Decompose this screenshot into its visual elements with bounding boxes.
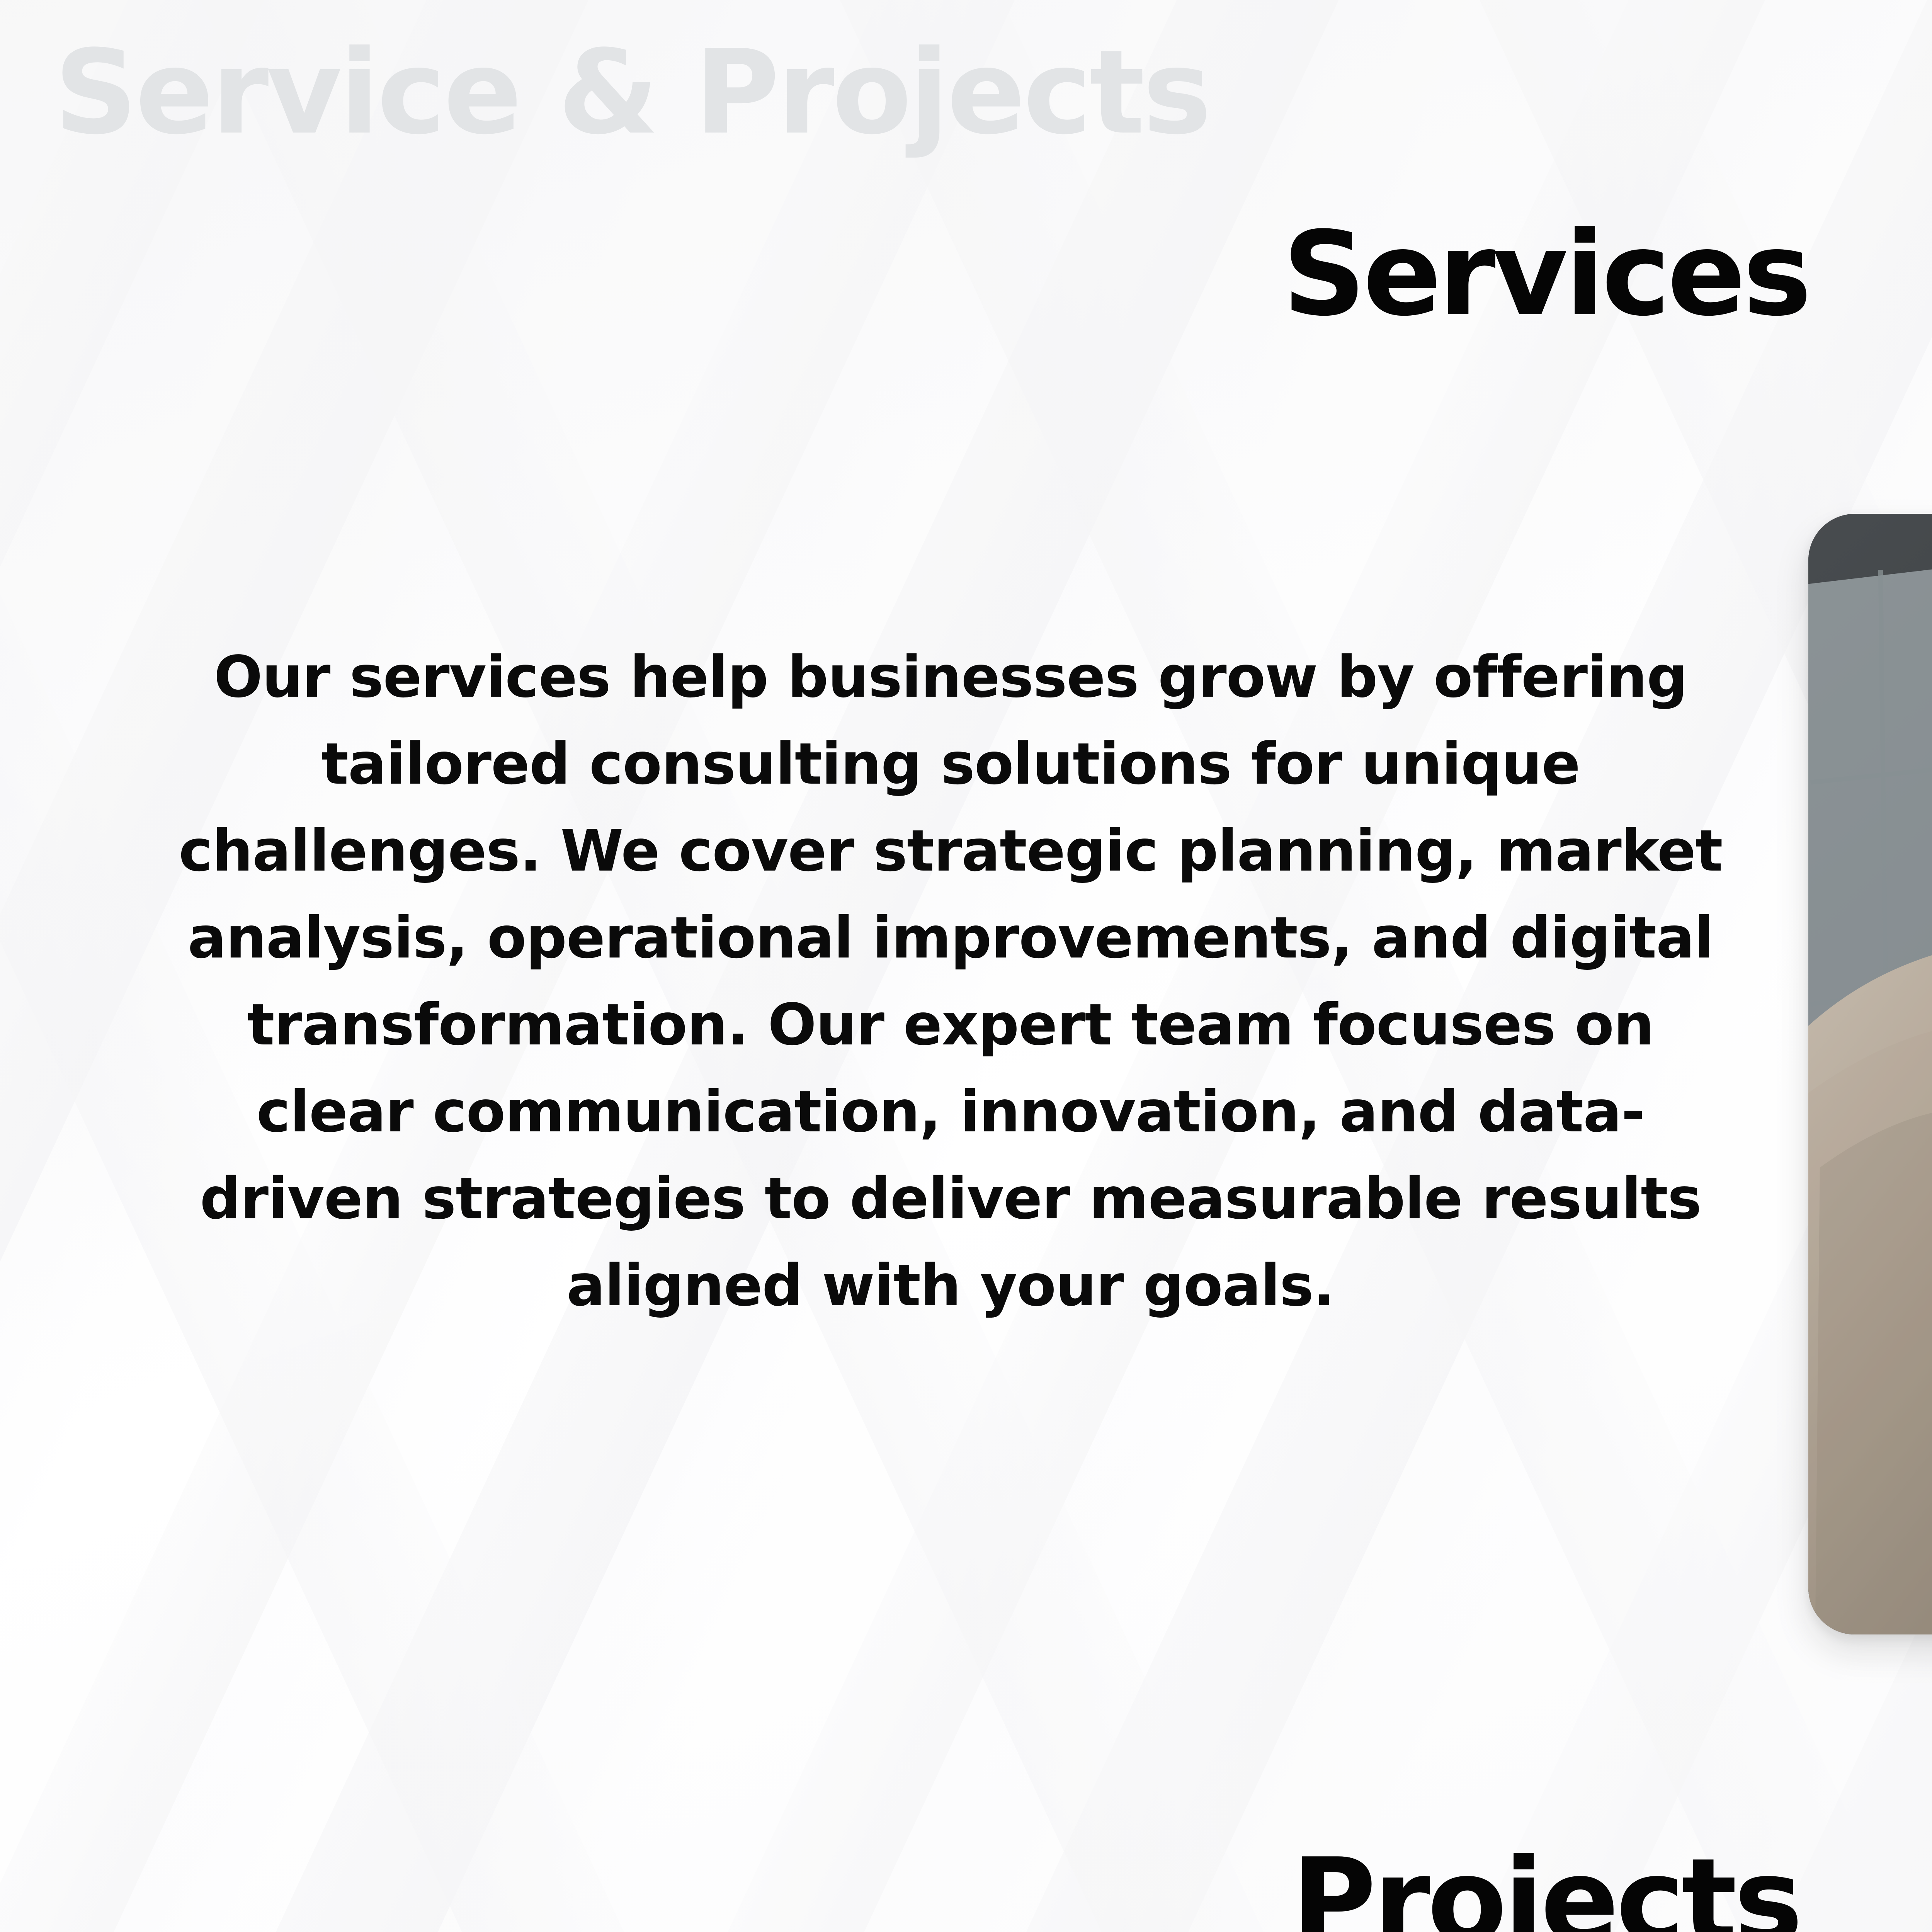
- services-body-text: Our services help businesses grow by off…: [166, 634, 1735, 1329]
- services-photo-card: [1808, 514, 1932, 1634]
- services-photo: [1808, 514, 1932, 1634]
- projects-heading: Projects: [0, 1843, 1932, 1932]
- services-heading: Services: [0, 216, 1932, 332]
- slide-canvas: Service & Projects Services Our services…: [0, 0, 1932, 1932]
- watermark-title: Service & Projects: [54, 35, 1209, 151]
